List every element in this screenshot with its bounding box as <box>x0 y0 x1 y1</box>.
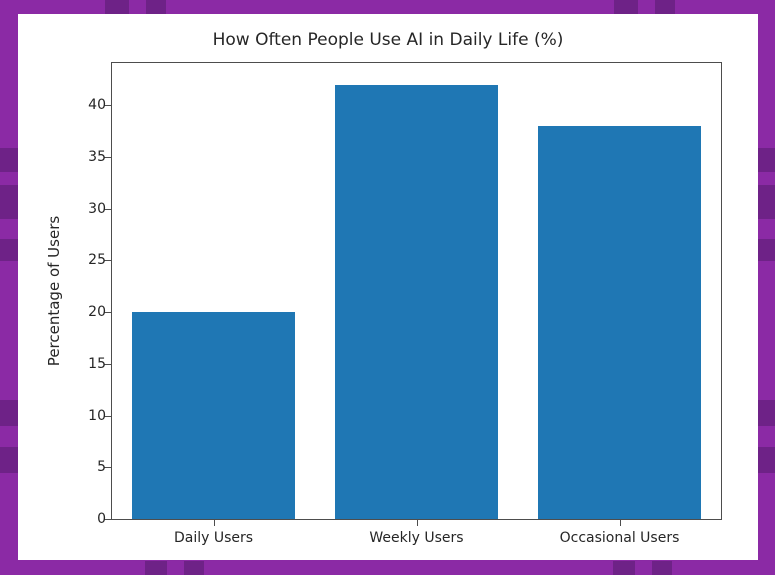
x-tick-mark <box>620 519 621 526</box>
y-tick-label: 35 <box>88 149 106 165</box>
bar-weekly-users <box>335 85 497 519</box>
plot-axes: 0510152025303540Daily UsersWeekly UsersO… <box>111 62 722 520</box>
y-tick-label: 5 <box>97 459 106 475</box>
frame-accent-square <box>757 400 775 426</box>
x-tick-mark <box>214 519 215 526</box>
frame-accent-square <box>0 148 18 172</box>
frame-accent-square <box>0 239 18 261</box>
frame-accent-square <box>757 447 775 473</box>
frame-accent-square <box>614 0 638 14</box>
x-tick-mark <box>417 519 418 526</box>
y-tick-label: 0 <box>97 511 106 527</box>
y-tick-label: 20 <box>88 304 106 320</box>
y-axis-label-text: Percentage of Users <box>45 216 63 366</box>
frame-accent-square <box>613 561 635 575</box>
frame-accent-square <box>757 239 775 261</box>
plot-area <box>112 63 721 519</box>
frame-accent-square <box>655 0 675 14</box>
frame-accent-square <box>105 0 129 14</box>
frame-accent-square <box>757 185 775 219</box>
bar-occasional-users <box>538 126 700 519</box>
y-tick-label: 40 <box>88 97 106 113</box>
y-tick-label: 15 <box>88 356 106 372</box>
bar-daily-users <box>132 312 294 519</box>
frame-accent-square <box>757 148 775 172</box>
frame-accent-square <box>184 561 204 575</box>
y-tick-label: 10 <box>88 408 106 424</box>
frame-accent-square <box>0 447 18 473</box>
x-tick-label: Weekly Users <box>369 530 463 546</box>
chart-figure: How Often People Use AI in Daily Life (%… <box>18 14 758 560</box>
x-tick-label: Occasional Users <box>560 530 680 546</box>
y-tick-label: 30 <box>88 201 106 217</box>
frame-accent-square <box>0 400 18 426</box>
frame-accent-square <box>652 561 672 575</box>
frame-accent-square <box>146 0 166 14</box>
chart-title: How Often People Use AI in Daily Life (%… <box>18 30 758 50</box>
x-tick-label: Daily Users <box>174 530 253 546</box>
decorative-purple-frame: How Often People Use AI in Daily Life (%… <box>0 0 775 575</box>
y-axis-label: Percentage of Users <box>44 62 64 520</box>
frame-accent-square <box>0 185 18 219</box>
frame-accent-square <box>145 561 167 575</box>
y-tick-label: 25 <box>88 252 106 268</box>
